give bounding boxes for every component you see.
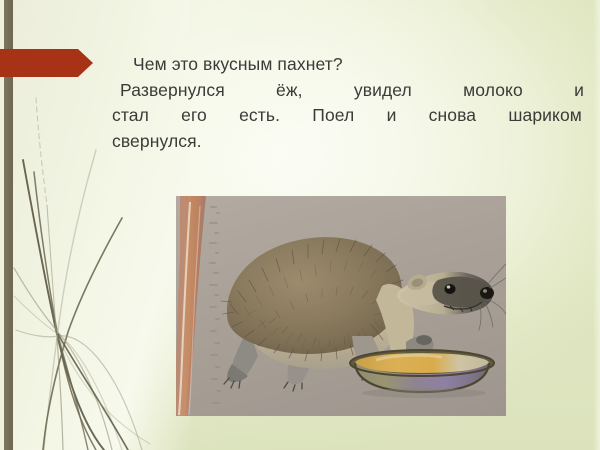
text-word: шариком <box>508 103 582 129</box>
text-word: и <box>387 103 397 129</box>
text-word: Развернулся <box>120 78 225 104</box>
text-word: снова <box>429 103 476 129</box>
text-word: его <box>181 103 207 129</box>
slide-body-text: Чем это вкусным пахнет? Развернулся ёж, … <box>112 52 586 154</box>
text-word: есть. <box>239 103 280 129</box>
text-word: стал <box>112 103 149 129</box>
text-word: увидел <box>354 78 412 104</box>
text-word: ёж, <box>276 78 303 104</box>
background-right-strip <box>593 0 600 450</box>
text-line-2: Развернулся ёж, увидел молоко и <box>112 78 586 104</box>
text-line-4: свернулся. <box>112 129 586 155</box>
text-line-1: Чем это вкусным пахнет? <box>112 52 586 78</box>
hedgehog-image <box>176 196 506 416</box>
hedgehog-illustration-art <box>176 196 506 416</box>
arrow-bullet-icon <box>0 49 93 77</box>
slide-canvas: Чем это вкусным пахнет? Развернулся ёж, … <box>0 0 600 450</box>
text-line-3: стал его есть. Поел и снова шариком <box>112 103 586 129</box>
text-word: Поел <box>312 103 354 129</box>
text-word: молоко <box>463 78 523 104</box>
text-word: и <box>574 78 584 104</box>
